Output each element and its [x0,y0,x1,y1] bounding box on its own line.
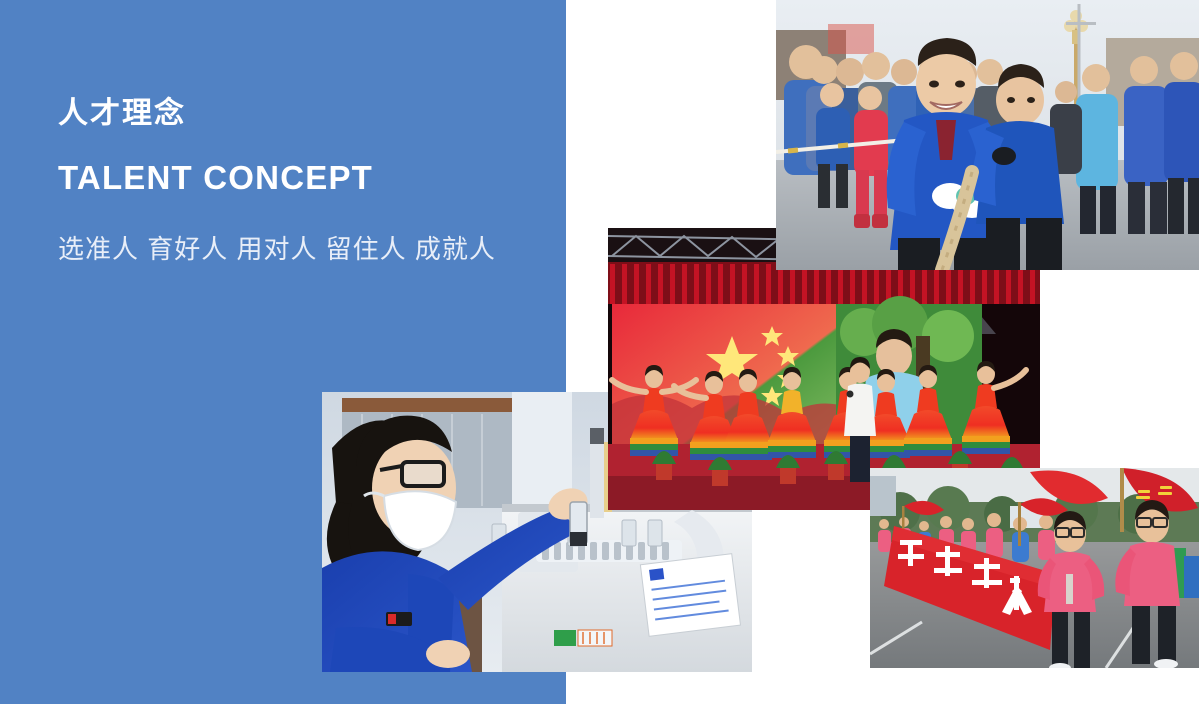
charity-run-illustration [870,468,1199,668]
photo-charity-run [870,468,1199,668]
subtitle-chinese: 选准人 育好人 用对人 留住人 成就人 [58,234,528,265]
photo-tug-of-war [776,0,1199,270]
page-title-english: TALENT CONCEPT [58,160,528,196]
slide-canvas: 人才理念 TALENT CONCEPT 选准人 育好人 用对人 留住人 成就人 [0,0,1199,704]
tug-of-war-illustration [776,0,1199,270]
page-title-chinese: 人才理念 [58,96,528,132]
text-block: 人才理念 TALENT CONCEPT 选准人 育好人 用对人 留住人 成就人 [58,96,528,265]
